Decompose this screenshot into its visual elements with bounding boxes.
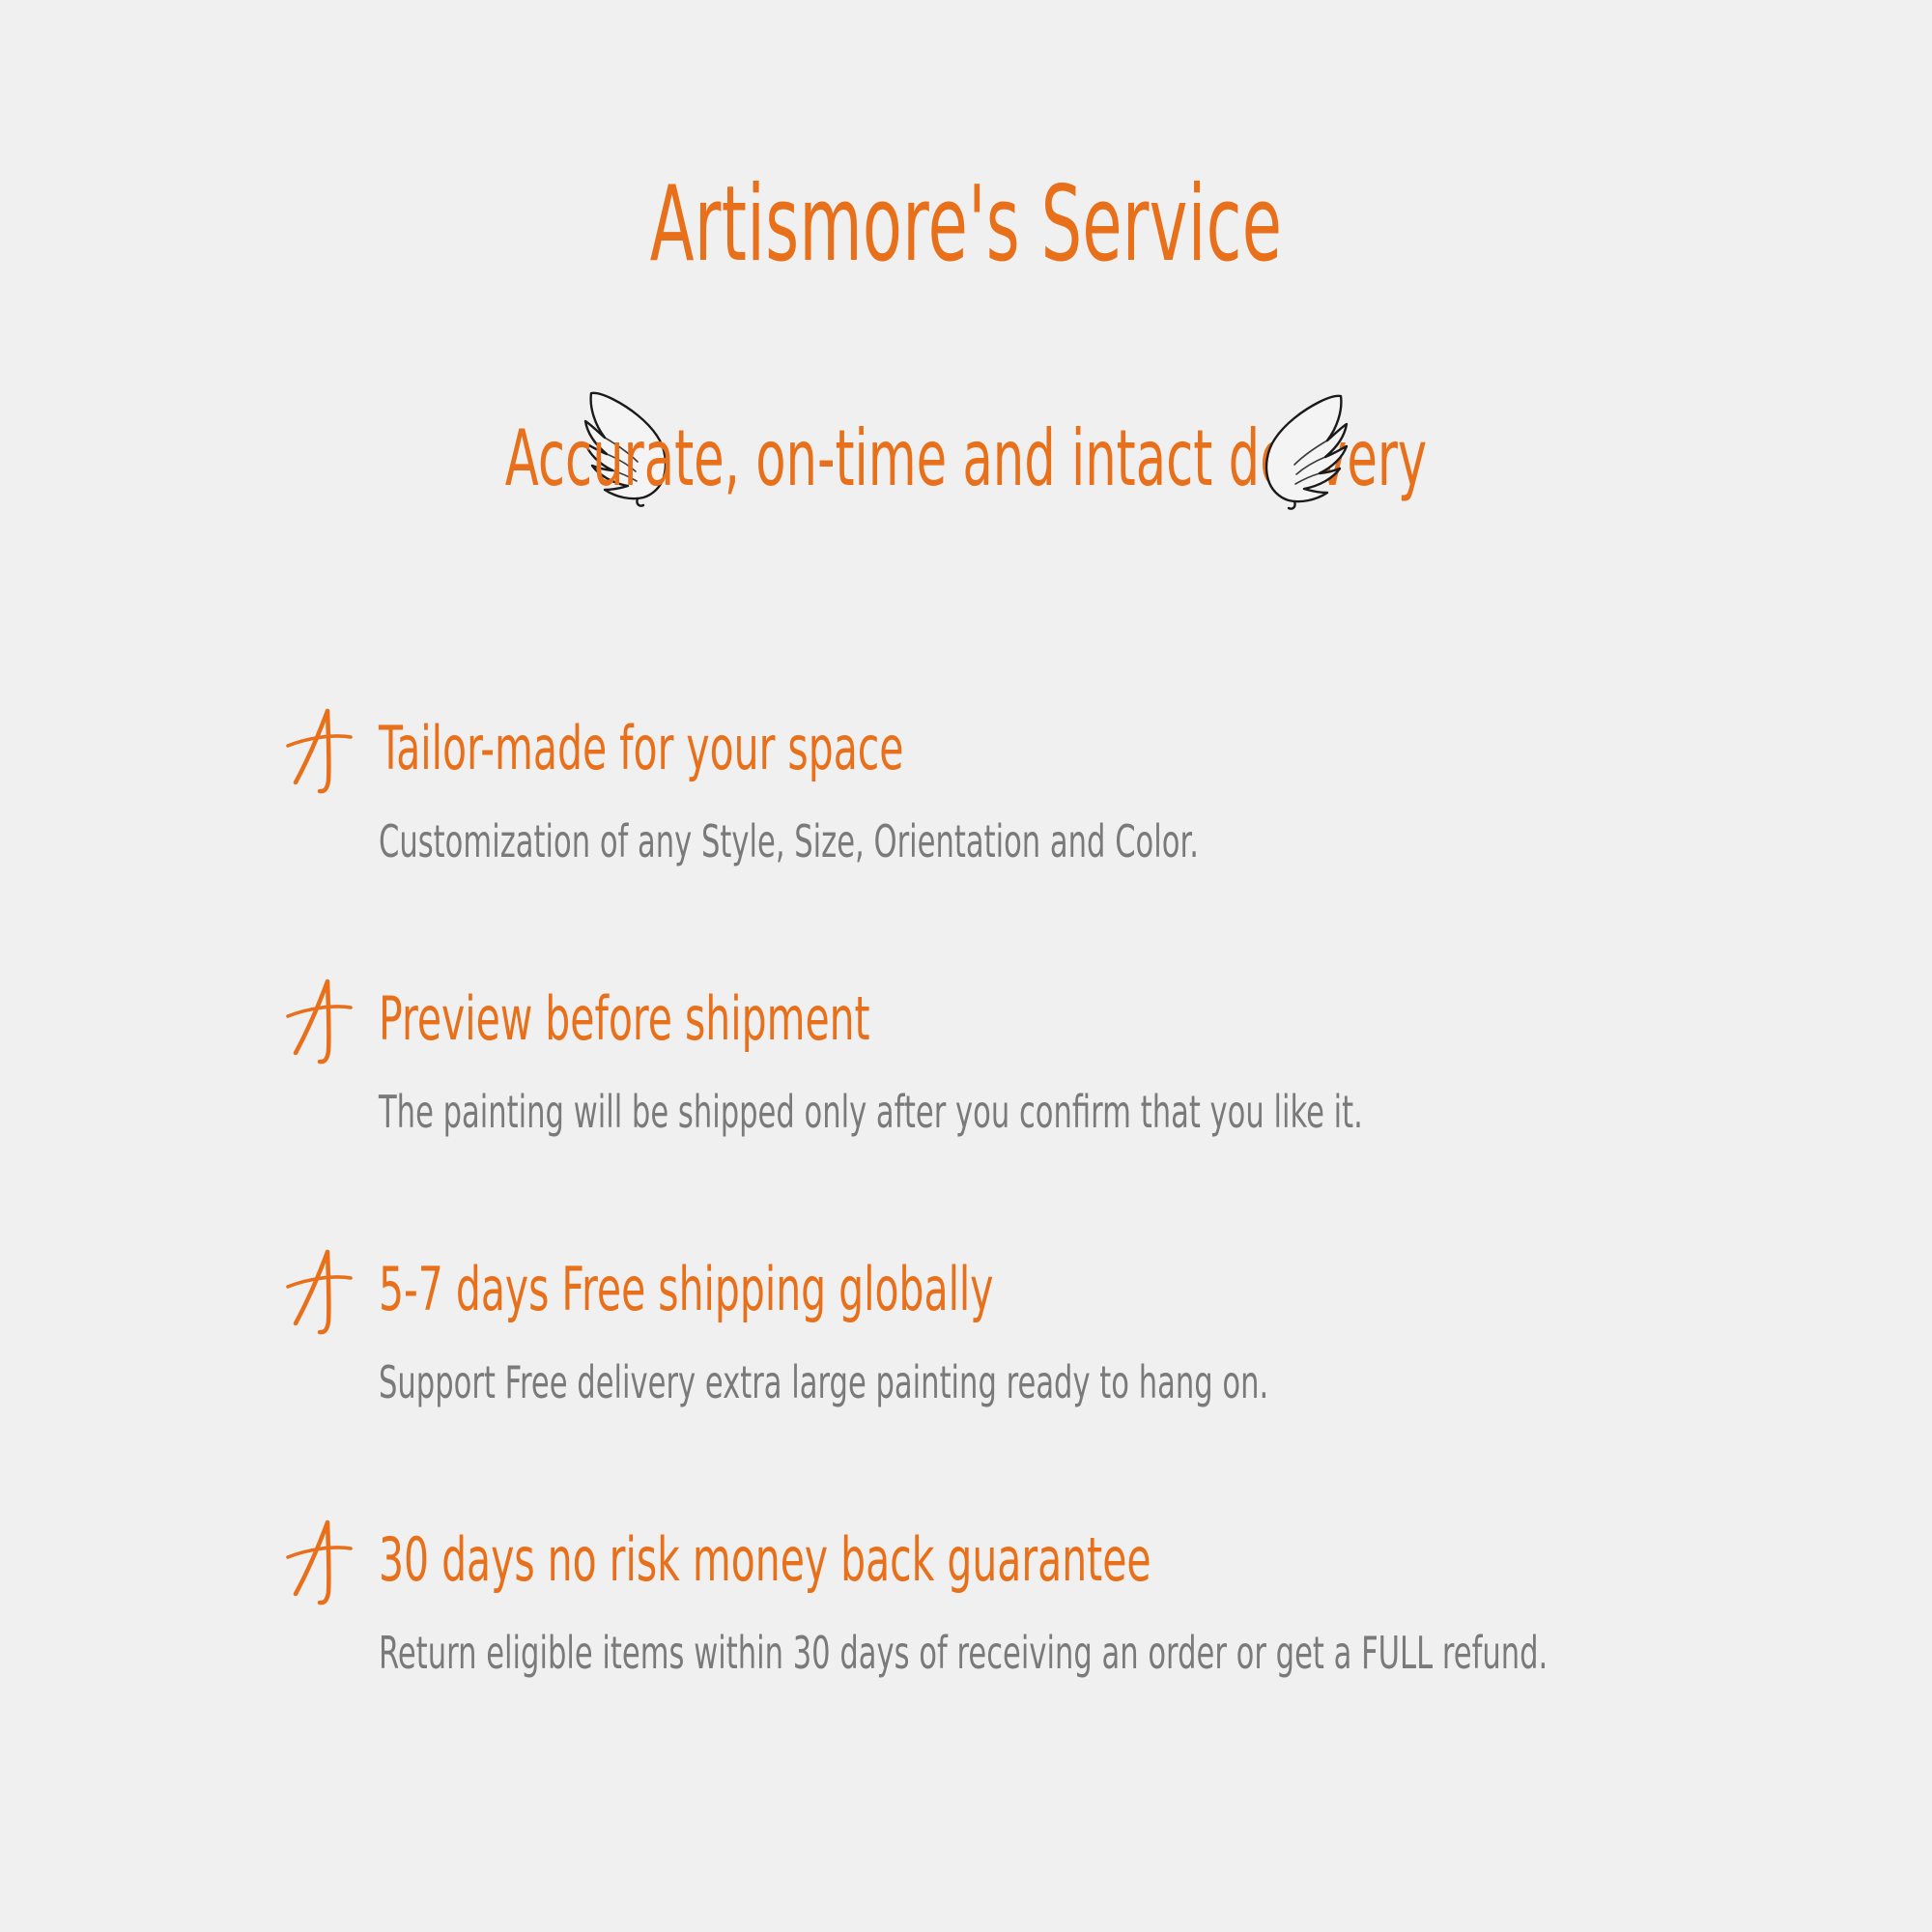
feature-title: 30 days no risk money back guarantee [379,1524,1151,1591]
script-a-icon [282,978,357,1066]
feature-heading-row: 5-7 days Free shipping globally [282,1254,1847,1337]
feature-heading-row: Preview before shipment [282,983,1847,1066]
service-info-page: Artismore's Service Accurate, on-time an… [0,0,1932,1932]
feature-title: Tailor-made for your space [379,713,903,780]
feature-description: The painting will be shipped only after … [379,1088,1363,1137]
feature-description: Support Free delivery extra large painti… [379,1358,1268,1407]
script-a-icon [282,1519,357,1607]
list-item: 5-7 days Free shipping globally Support … [282,1254,1847,1524]
list-item: Preview before shipment The painting wil… [282,983,1847,1254]
feature-description: Customization of any Style, Size, Orient… [379,817,1199,867]
feature-title: 5-7 days Free shipping globally [379,1254,994,1321]
feature-title: Preview before shipment [379,983,870,1050]
script-a-icon [282,1248,357,1337]
feature-description: Return eligible items within 30 days of … [379,1629,1548,1678]
feature-heading-row: Tailor-made for your space [282,713,1847,796]
list-item: 30 days no risk money back guarantee Ret… [282,1524,1847,1795]
page-title: Artismore's Service [367,170,1565,279]
feature-list: Tailor-made for your space Customization… [282,713,1847,1795]
wing-icon [1250,385,1362,511]
subtitle-banner: Accurate, on-time and intact delivery [0,384,1932,520]
script-a-icon [282,707,357,796]
feature-heading-row: 30 days no risk money back guarantee [282,1524,1847,1607]
list-item: Tailor-made for your space Customization… [282,713,1847,983]
